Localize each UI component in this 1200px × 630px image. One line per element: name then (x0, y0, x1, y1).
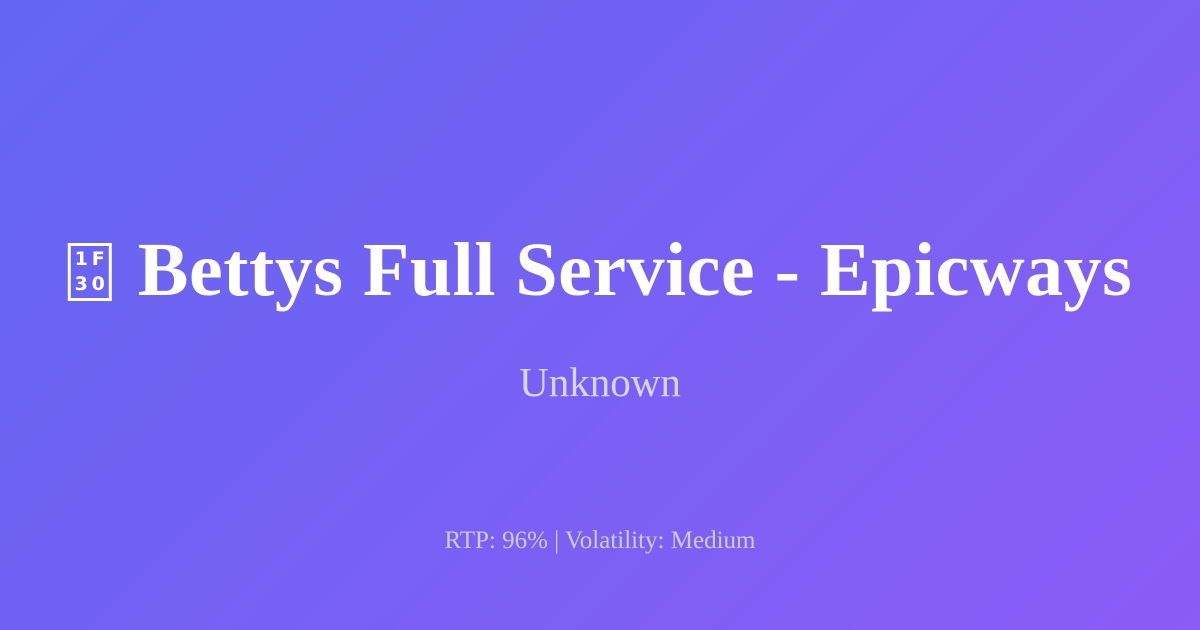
hex-digit-4: 0 (92, 275, 105, 294)
page-title: Bettys Full Service - Epicways (138, 232, 1132, 308)
hex-digit-2: F (92, 250, 105, 269)
hex-digit-1: 1 (75, 250, 88, 269)
game-meta-line: RTP: 96% | Volatility: Medium (0, 528, 1200, 553)
title-row: 1 F 3 0 Bettys Full Service - Epicways (68, 232, 1132, 308)
og-share-card: 1 F 3 0 Bettys Full Service - Epicways U… (0, 0, 1200, 630)
missing-glyph-hex-grid: 1 F 3 0 (71, 246, 109, 298)
hex-digit-3: 3 (75, 275, 88, 294)
slot-machine-emoji-icon: 1 F 3 0 (68, 243, 112, 301)
subtitle: Unknown (0, 362, 1200, 403)
